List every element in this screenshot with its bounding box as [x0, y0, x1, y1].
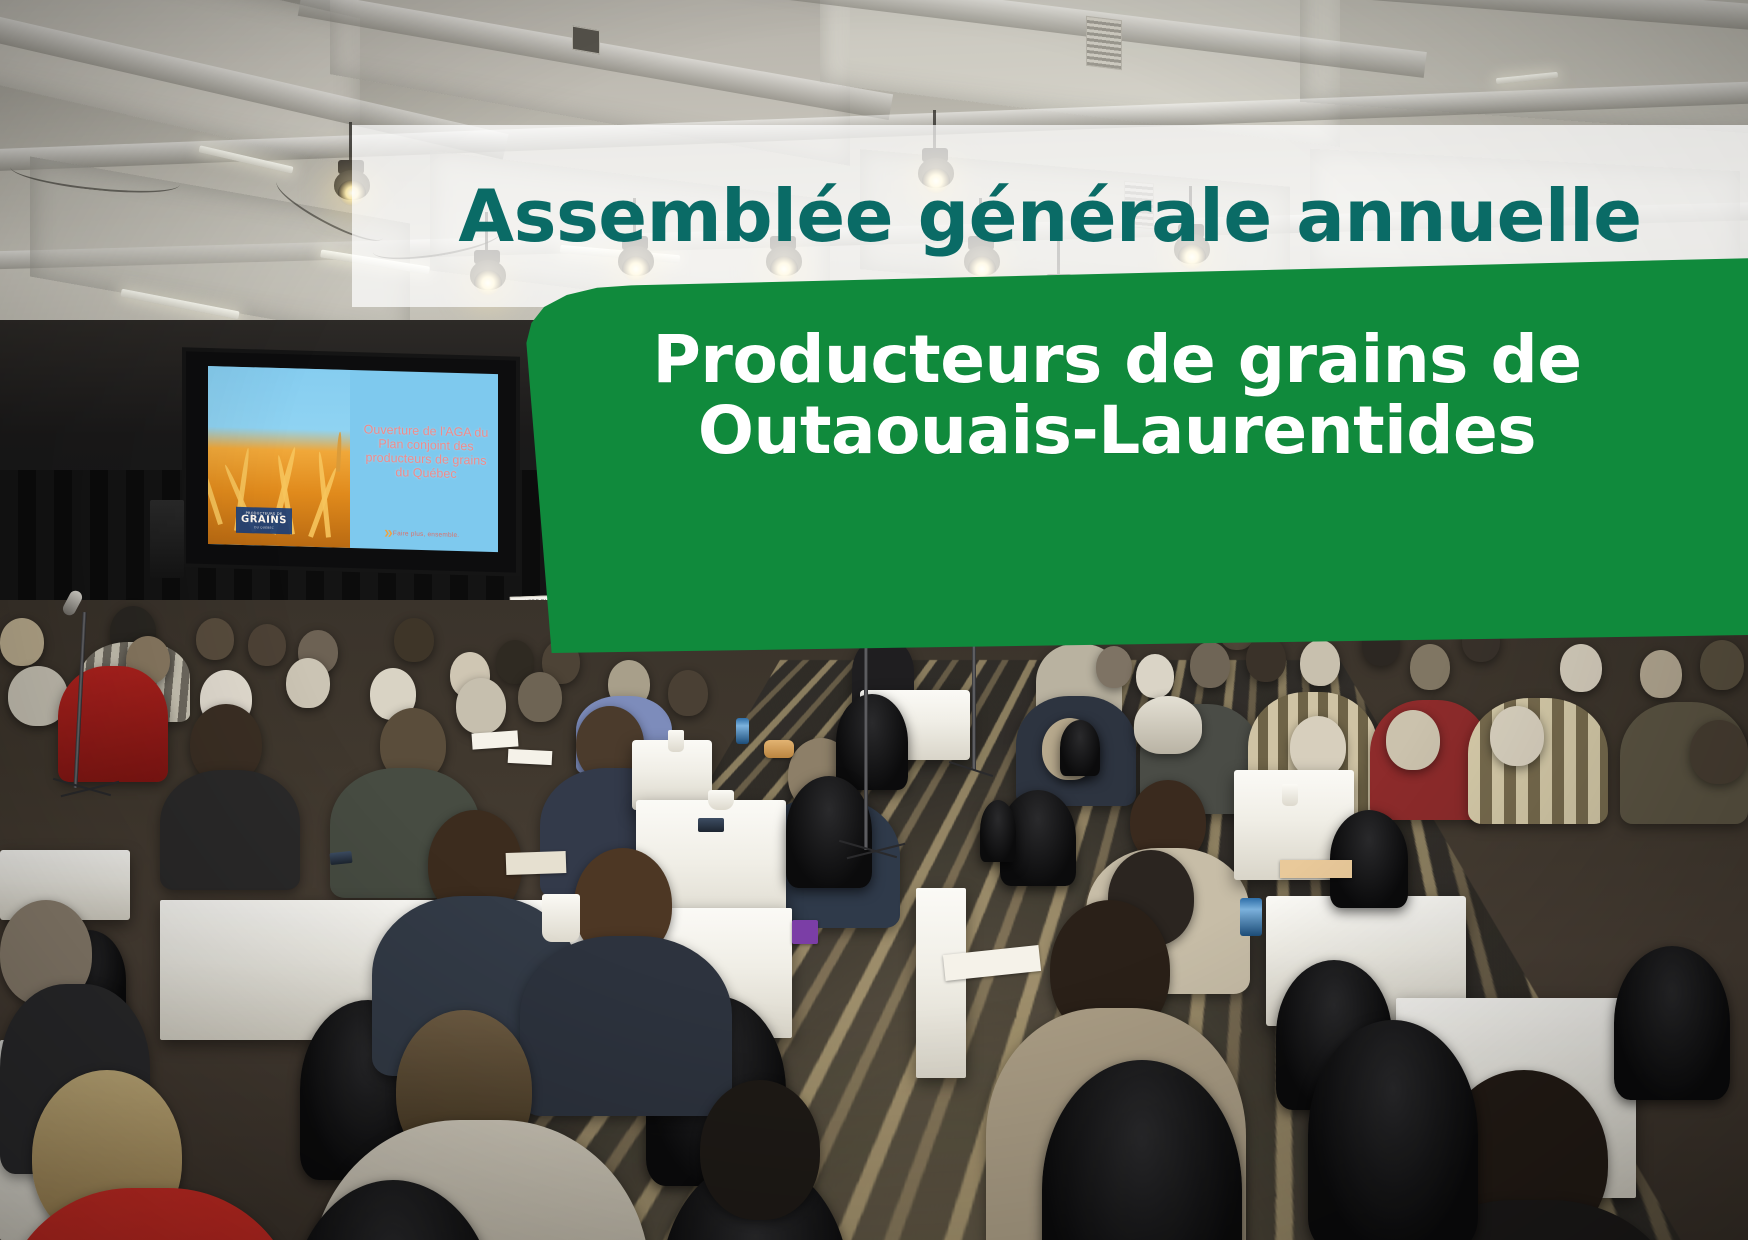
attendee-head	[1490, 706, 1544, 766]
pa-speaker	[150, 500, 184, 578]
water-cup	[542, 894, 580, 942]
organization-name-line-2: Outaouais-Laurentides	[486, 396, 1748, 467]
attendee-head	[1300, 640, 1340, 686]
attendee-head	[286, 658, 330, 708]
attendee-head	[668, 670, 708, 716]
banquet-chair	[836, 694, 908, 790]
slide-tagline: ❯❯ Faire plus, ensemble.	[384, 529, 459, 539]
banquet-chair-foreground	[1308, 1020, 1478, 1240]
page-title: Assemblée générale annuelle	[458, 180, 1641, 252]
slide-heading: Ouverture de l'AGA du Plan conjoint des …	[354, 422, 498, 482]
attendee-body	[160, 770, 300, 890]
document-notebook	[506, 851, 567, 875]
guest-table	[916, 888, 966, 1078]
attendee-head	[1136, 654, 1174, 698]
projection-screen: PRODUCTEURS DE GRAINS DU QUÉBEC Ouvertur…	[186, 351, 516, 572]
attendee-head	[1096, 646, 1132, 688]
snack-wrapper	[792, 920, 818, 944]
ceiling-vent	[1086, 16, 1122, 70]
event-promo-image: PRODUCTEURS DE GRAINS DU QUÉBEC Ouvertur…	[0, 0, 1748, 1240]
organization-banner: Producteurs de grains de Outaouais-Laure…	[486, 255, 1748, 655]
attendee-head	[456, 678, 506, 734]
ceiling-vent	[572, 26, 600, 55]
coffee-cup	[1282, 784, 1298, 806]
attendee-head	[1190, 642, 1230, 688]
organization-name-line-1: Producteurs de grains de	[486, 325, 1748, 396]
attendee-head	[1700, 640, 1744, 690]
microphone-stand	[972, 640, 976, 770]
banquet-chair	[1330, 810, 1408, 908]
banquet-chair	[1614, 946, 1730, 1100]
attendee-head	[700, 1080, 820, 1220]
attendee-head	[1246, 636, 1286, 682]
audience-area	[0, 600, 1748, 1240]
attendee-head	[518, 672, 562, 722]
attendee-head-cap	[1134, 696, 1202, 754]
banquet-chair	[980, 800, 1016, 862]
smartphone	[698, 818, 724, 832]
banquet-chair	[1060, 720, 1100, 776]
chevron-icon: ❯❯	[384, 530, 391, 537]
attendee-head	[1410, 644, 1450, 690]
document-paper	[1280, 860, 1352, 878]
grains-quebec-logo: PRODUCTEURS DE GRAINS DU QUÉBEC	[236, 507, 292, 535]
logo-line-2: GRAINS	[241, 515, 287, 526]
attendee-head	[1290, 716, 1346, 778]
coffee-cup	[708, 790, 734, 810]
beverage-can	[736, 718, 749, 744]
attendee-head	[0, 618, 44, 666]
attendee-head	[1690, 720, 1748, 784]
logo-line-3: DU QUÉBEC	[254, 525, 274, 530]
organization-name: Producteurs de grains de Outaouais-Laure…	[486, 325, 1748, 466]
smartphone	[329, 851, 352, 865]
coffee-cup	[668, 730, 684, 752]
attendee-head	[1560, 644, 1602, 692]
document-paper	[471, 730, 518, 749]
attendee-head	[1386, 710, 1440, 770]
attendee-head	[394, 618, 434, 662]
microphone-stand	[864, 614, 868, 850]
banquet-chair	[786, 776, 872, 888]
slide-tagline-text: Faire plus, ensemble.	[393, 530, 459, 539]
beverage-can	[1240, 898, 1262, 936]
attendee-head	[196, 618, 234, 660]
document-paper	[508, 749, 553, 765]
attendee-head	[248, 624, 286, 666]
attendee-body	[520, 936, 732, 1116]
projection-slide: PRODUCTEURS DE GRAINS DU QUÉBEC Ouvertur…	[208, 366, 498, 552]
pastry	[764, 740, 794, 758]
attendee-head	[1640, 650, 1682, 698]
